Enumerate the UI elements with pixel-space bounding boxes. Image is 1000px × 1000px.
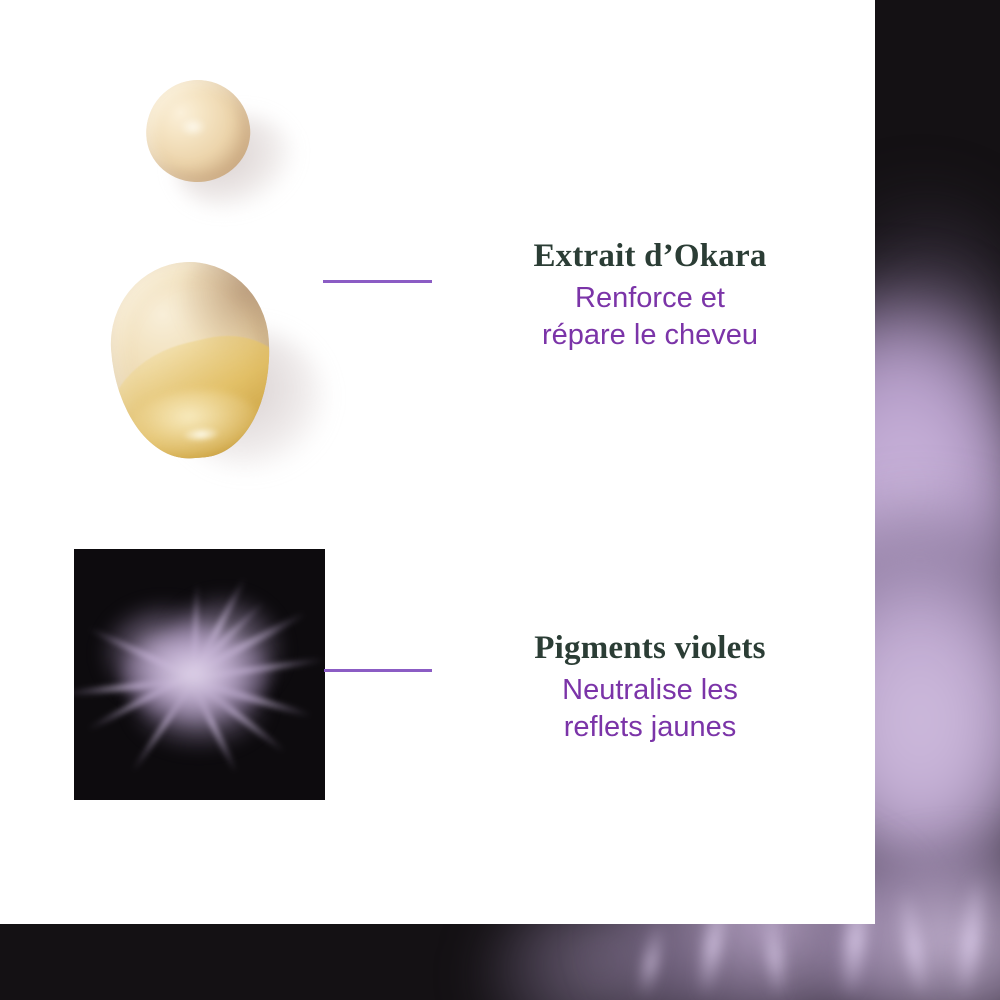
ingredient-description-okara: Renforce et répare le cheveu bbox=[460, 280, 840, 354]
ingredient-description-pigments: Neutralise les reflets jaunes bbox=[460, 672, 840, 746]
ingredient-description-pigments-line1: Neutralise les bbox=[562, 674, 738, 706]
ingredient-title-pigments: Pigments violets bbox=[460, 630, 840, 666]
ingredient-block-okara: Extrait d’Okara Renforce et répare le ch… bbox=[460, 238, 840, 355]
powder-puff-core bbox=[122, 627, 270, 725]
ingredient-description-okara-line1: Renforce et bbox=[575, 282, 725, 314]
purple-powder-image bbox=[74, 549, 325, 800]
infographic-canvas: Extrait d’Okara Renforce et répare le ch… bbox=[0, 0, 1000, 1000]
connector-line-okara bbox=[323, 280, 432, 283]
ingredient-title-okara: Extrait d’Okara bbox=[460, 238, 840, 274]
content-card: Extrait d’Okara Renforce et répare le ch… bbox=[0, 0, 875, 924]
ingredient-block-pigments: Pigments violets Neutralise les reflets … bbox=[460, 630, 840, 747]
ingredient-description-pigments-line2: reflets jaunes bbox=[564, 711, 737, 743]
connector-line-pigments bbox=[324, 669, 432, 672]
soybean-sphere-highlight bbox=[180, 118, 206, 136]
ingredient-description-okara-line2: répare le cheveu bbox=[542, 319, 758, 351]
soybean-droplet-image bbox=[105, 257, 276, 464]
